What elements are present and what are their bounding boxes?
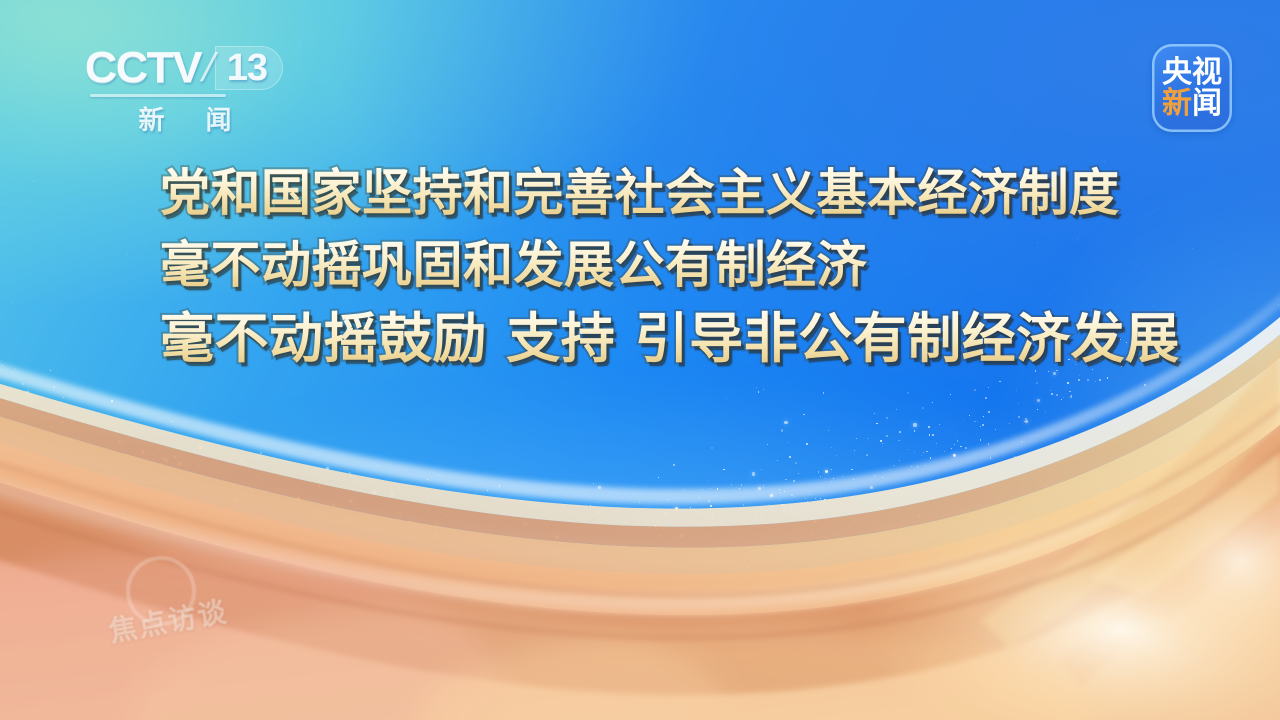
headline-line-1: 党和国家坚持和完善社会主义基本经济制度 党和国家坚持和完善社会主义基本经济制度 … [160, 168, 1220, 218]
news-badge-line2-rest: 闻 [1192, 89, 1222, 119]
cctv-channel-number: 13 [227, 47, 267, 90]
news-badge-line2-highlight: 新 [1162, 89, 1192, 119]
cctv-logo-row: CCTV / 13 [86, 44, 276, 92]
news-badge-line1-text: 央视 [1162, 58, 1222, 88]
broadcast-screen: CCTV / 13 新 闻 央视 新 闻 党和国家坚持和完善社会主义基本经济制度… [0, 0, 1280, 720]
headline-line-3: 毫不动摇鼓励 支持 引导非公有制经济发展 毫不动摇鼓励 支持 引导非公有制经济发… [160, 312, 1220, 366]
cctv13-channel-logo: CCTV / 13 新 闻 [86, 44, 276, 140]
cctv-news-badge: 央视 新 闻 [1152, 44, 1232, 132]
cctv-logo-underline [90, 94, 226, 97]
headline-line-3-text: 毫不动摇鼓励 支持 引导非公有制经济发展 [160, 307, 1180, 370]
cctv-logo-subtitle: 新 闻 [110, 100, 260, 137]
headline-line-2: 毫不动摇巩固和发展公有制经济 毫不动摇巩固和发展公有制经济 毫不动摇巩固和发展公… [160, 240, 1220, 290]
cctv-number-pill: 13 [215, 46, 283, 90]
headline-line-1-text: 党和国家坚持和完善社会主义基本经济制度 [160, 164, 1120, 222]
headline-block: 党和国家坚持和完善社会主义基本经济制度 党和国家坚持和完善社会主义基本经济制度 … [160, 168, 1220, 366]
cctv-wordmark: CCTV [85, 46, 201, 90]
headline-line-2-text: 毫不动摇巩固和发展公有制经济 [160, 236, 867, 294]
news-badge-line1: 央视 [1162, 58, 1222, 88]
news-badge-line2: 新 闻 [1162, 89, 1222, 119]
